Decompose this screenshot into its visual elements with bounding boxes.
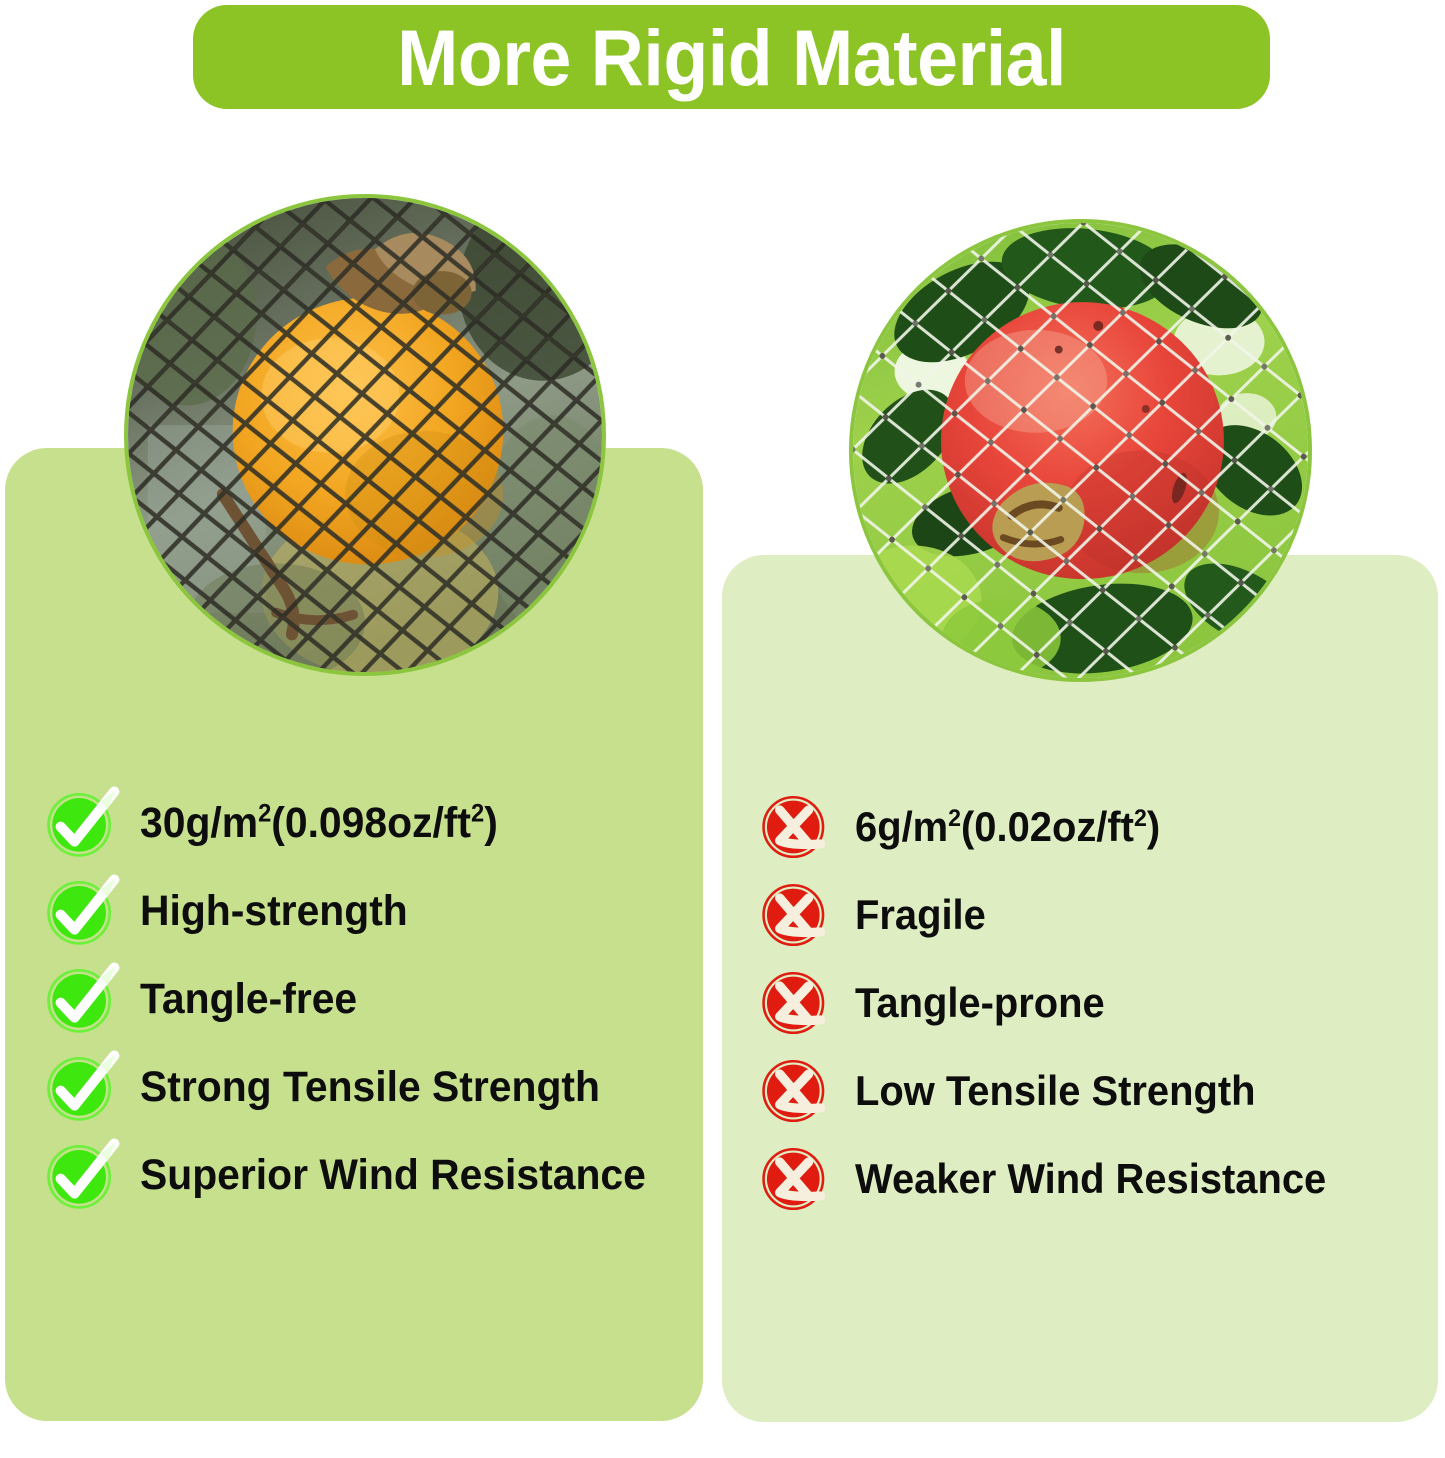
list-item: Superior Wind Resistance — [44, 1131, 694, 1219]
list-item-label: Strong Tensile Strength — [140, 1066, 600, 1109]
photo-left-inner — [128, 198, 602, 672]
list-item: Fragile — [761, 871, 1431, 959]
green-check-icon — [44, 874, 118, 948]
list-item: Tangle-free — [44, 955, 694, 1043]
green-check-icon — [44, 1138, 118, 1212]
orange-fruit-netting-illustration — [128, 198, 602, 672]
list-item-label: Superior Wind Resistance — [140, 1154, 646, 1197]
feature-list-good: 30g/m2(0.098oz/ft2) High-strength Tangle… — [44, 779, 694, 1219]
red-cross-icon — [761, 881, 829, 949]
list-item-label: 30g/m2(0.098oz/ft2) — [140, 802, 498, 845]
list-item-label: Fragile — [855, 894, 986, 936]
list-item: 6g/m2(0.02oz/ft2) — [761, 783, 1431, 871]
list-item: Tangle-prone — [761, 959, 1431, 1047]
pomegranate-behind-white-netting-photo — [849, 219, 1312, 682]
feature-list-bad: 6g/m2(0.02oz/ft2) Fragile Tangle-prone — [761, 783, 1431, 1223]
green-check-icon-svg — [44, 1138, 118, 1212]
red-cross-icon-svg — [761, 881, 829, 949]
red-cross-icon — [761, 793, 829, 861]
red-cross-icon-svg — [761, 1145, 829, 1213]
list-item-label: 6g/m2(0.02oz/ft2) — [855, 806, 1160, 848]
header-banner: More Rigid Material — [193, 5, 1270, 109]
list-item-label: Tangle-free — [140, 978, 357, 1021]
green-check-icon-svg — [44, 874, 118, 948]
list-item: High-strength — [44, 867, 694, 955]
green-check-icon-svg — [44, 786, 118, 860]
red-cross-icon — [761, 1145, 829, 1213]
page-title: More Rigid Material — [397, 18, 1066, 97]
list-item-label: Low Tensile Strength — [855, 1070, 1256, 1112]
list-item: Low Tensile Strength — [761, 1047, 1431, 1135]
red-cross-icon — [761, 969, 829, 1037]
photo-right-inner — [853, 223, 1308, 678]
green-check-icon — [44, 786, 118, 860]
green-check-icon-svg — [44, 1050, 118, 1124]
red-cross-icon-svg — [761, 1057, 829, 1125]
list-item-label: High-strength — [140, 890, 408, 933]
list-item: Strong Tensile Strength — [44, 1043, 694, 1131]
list-item-label: Tangle-prone — [855, 982, 1105, 1024]
list-item: 30g/m2(0.098oz/ft2) — [44, 779, 694, 867]
red-cross-icon-svg — [761, 793, 829, 861]
list-item: Weaker Wind Resistance — [761, 1135, 1431, 1223]
orange-fruit-behind-dark-netting-photo — [124, 194, 606, 676]
pomegranate-netting-illustration — [853, 223, 1308, 678]
list-item-label: Weaker Wind Resistance — [855, 1158, 1326, 1200]
green-check-icon — [44, 962, 118, 1036]
green-check-icon-svg — [44, 962, 118, 1036]
green-check-icon — [44, 1050, 118, 1124]
red-cross-icon-svg — [761, 969, 829, 1037]
red-cross-icon — [761, 1057, 829, 1125]
